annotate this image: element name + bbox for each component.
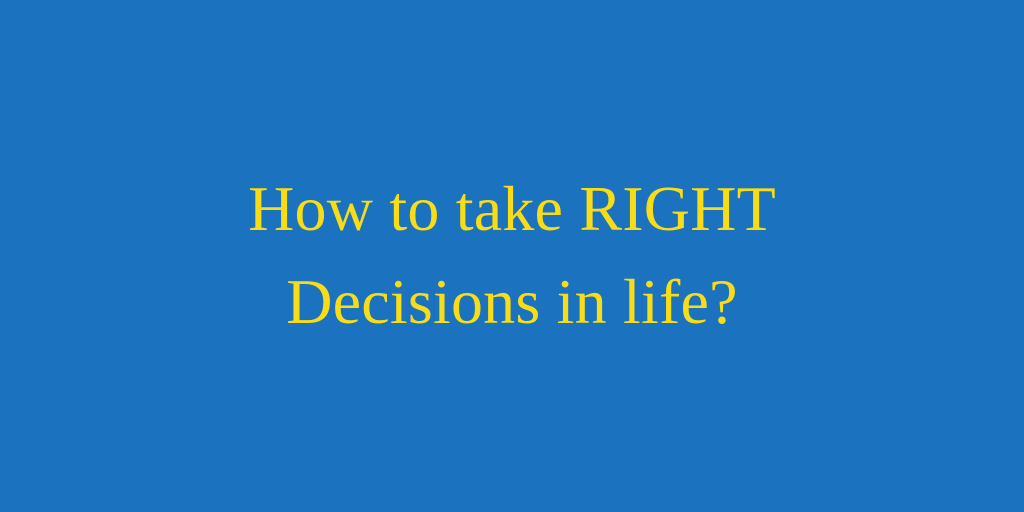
slide-canvas: How to take RIGHT Decisions in life? (0, 0, 1024, 512)
title-line-2: Decisions in life? (0, 255, 1024, 348)
page-title: How to take RIGHT Decisions in life? (0, 162, 1024, 348)
title-line-1: How to take RIGHT (0, 162, 1024, 255)
